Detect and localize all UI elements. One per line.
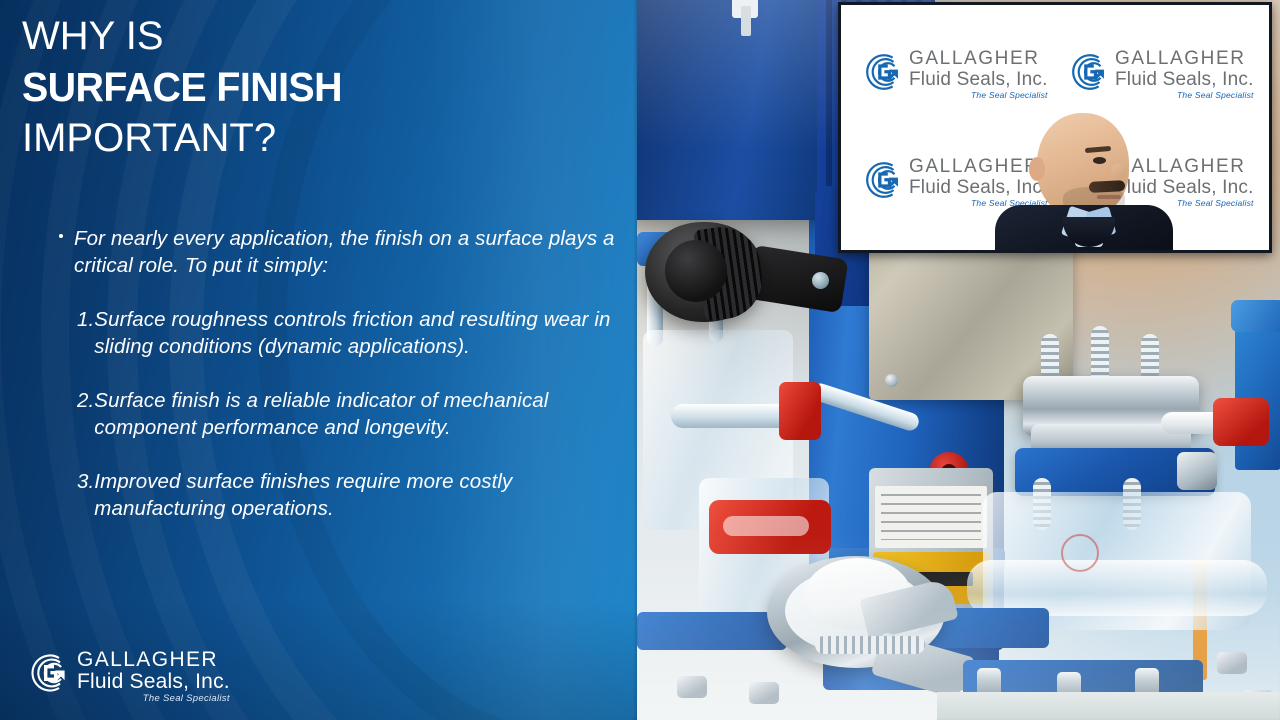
gallagher-g-logo-icon [1065,49,1113,100]
logo-name-top: GALLAGHER [77,649,230,670]
list-item: 3. Improved surface finishes require mor… [58,468,618,522]
logo-tagline: The Seal Specialist [1115,91,1254,100]
logo-tagline: The Seal Specialist [909,91,1048,100]
title-line-2: SURFACE FINISH [22,67,598,108]
logo-tagline: The Seal Specialist [77,694,230,704]
backdrop-logo-tile: GALLAGHER Fluid Seals, Inc. The Seal Spe… [1065,49,1254,100]
list-item: 2. Surface finish is a reliable indicato… [58,387,618,441]
logo-name-top: GALLAGHER [909,49,1048,68]
bullet-dot-icon [59,234,63,238]
company-logo: GALLAGHER Fluid Seals, Inc. The Seal Spe… [24,649,230,704]
list-item-text: Improved surface finishes require more c… [94,468,618,522]
page-title: WHY IS SURFACE FINISH IMPORTANT? [22,16,622,158]
presenter-avatar [993,113,1173,253]
logo-name-bottom: Fluid Seals, Inc. [1115,70,1254,89]
webcam-overlay[interactable]: GALLAGHER Fluid Seals, Inc. The Seal Spe… [838,2,1272,253]
list-item-number: 3. [58,468,94,522]
list-item-number: 1. [58,306,94,360]
lead-bullet: For nearly every application, the finish… [58,225,618,279]
logo-name-bottom: Fluid Seals, Inc. [909,70,1048,89]
title-line-1: WHY IS [22,16,622,56]
gallagher-g-logo-icon [24,649,74,702]
slide-body: For nearly every application, the finish… [58,225,618,522]
list-item-text: Surface finish is a reliable indicator o… [94,387,618,441]
logo-wordmark: GALLAGHER Fluid Seals, Inc. The Seal Spe… [77,649,230,704]
gallagher-g-logo-icon [859,157,907,208]
title-line-3: IMPORTANT? [22,118,622,158]
list-item-number: 2. [58,387,94,441]
slide-stage: WHY IS SURFACE FINISH IMPORTANT? For nea… [0,0,1280,720]
lead-bullet-text: For nearly every application, the finish… [74,227,615,277]
slide-content-panel: WHY IS SURFACE FINISH IMPORTANT? For nea… [0,0,637,720]
list-item: 1. Surface roughness controls friction a… [58,306,618,360]
gallagher-g-logo-icon [859,49,907,100]
logo-name-top: GALLAGHER [1115,49,1254,68]
backdrop-logo-tile: GALLAGHER Fluid Seals, Inc. The Seal Spe… [859,49,1048,100]
logo-name-bottom: Fluid Seals, Inc. [77,671,230,692]
list-item-text: Surface roughness controls friction and … [94,306,618,360]
numbered-list: 1. Surface roughness controls friction a… [58,306,618,522]
